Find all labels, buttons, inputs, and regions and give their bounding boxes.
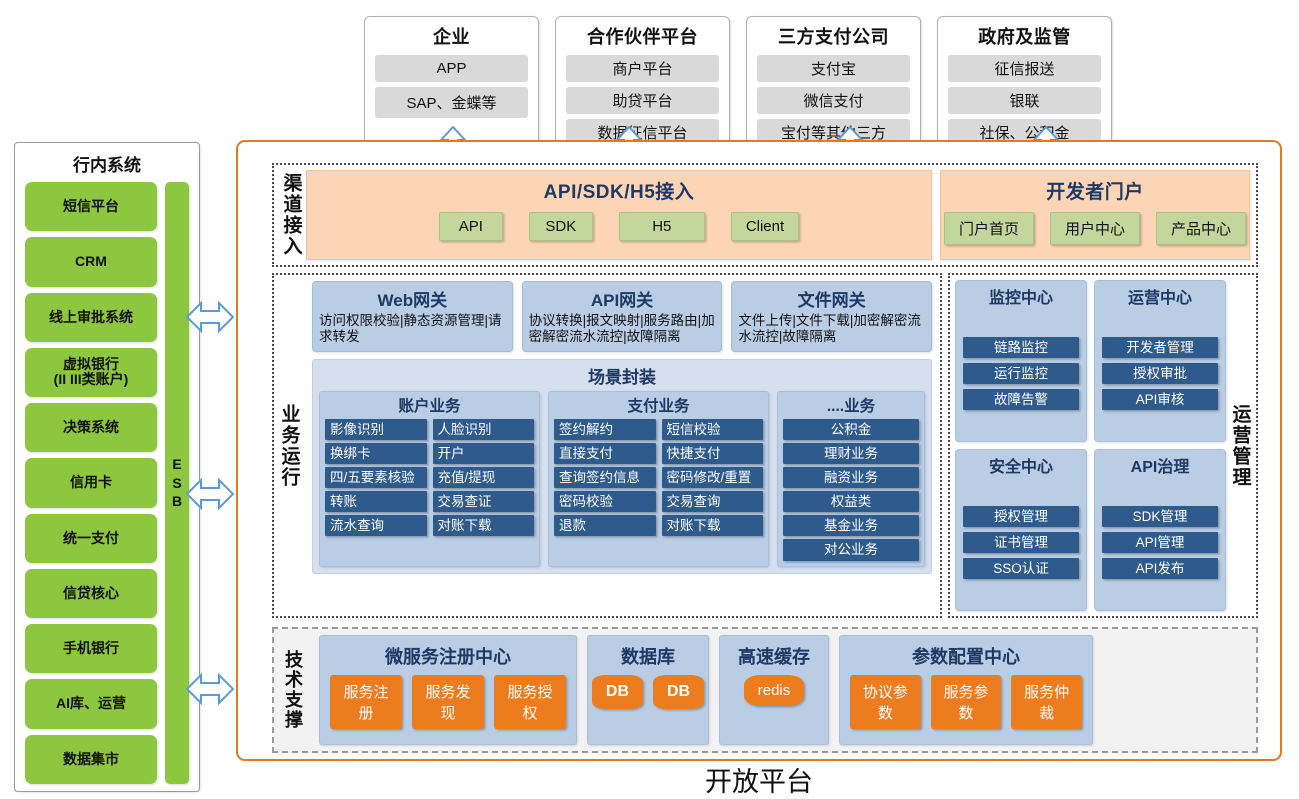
scene-item[interactable]: 交易查证	[433, 491, 535, 512]
scene-item[interactable]: 退款	[554, 515, 656, 536]
channel-chip-client[interactable]: Client	[731, 212, 799, 241]
system-item-data-mart[interactable]: 数据集市	[25, 735, 157, 784]
external-box-government-regulator[interactable]: 政府及监管 征信报送 银联 社保、公积金	[937, 16, 1112, 160]
ops-card-title: 监控中心	[963, 284, 1079, 308]
external-item[interactable]: 支付宝	[757, 55, 910, 82]
scene-card-title: 支付业务	[554, 394, 763, 416]
scene-item[interactable]: 理财业务	[783, 443, 919, 464]
ops-item[interactable]: 授权管理	[963, 506, 1079, 527]
ops-card-title: 安全中心	[963, 453, 1079, 477]
scene-encapsulation-panel: 场景封装 账户业务 影像识别 人脸识别 换绑卡 开户 四/五要素核验 充值/提现	[312, 359, 932, 574]
scene-item[interactable]: 权益类	[783, 491, 919, 512]
system-item-mobile-bank[interactable]: 手机银行	[25, 624, 157, 673]
external-item[interactable]: 商户平台	[566, 55, 719, 82]
ops-card-api-governance: API治理 SDK管理 API管理 API发布	[1094, 449, 1226, 611]
tech-support-label: 技术支撑	[277, 635, 309, 745]
scene-card-title: 账户业务	[325, 394, 534, 416]
developer-portal-panel: 开发者门户 门户首页 用户中心 产品中心	[940, 170, 1250, 260]
scene-item[interactable]: 密码校验	[554, 491, 656, 512]
tech-item[interactable]: 服务参数	[931, 675, 1002, 729]
external-item[interactable]: SAP、金蝶等	[375, 87, 528, 118]
scene-item[interactable]: 基金业务	[783, 515, 919, 536]
external-box-title: 企业	[433, 23, 470, 49]
system-item-credit-card[interactable]: 信用卡	[25, 458, 157, 507]
ops-card-monitoring-center: 监控中心 链路监控 运行监控 故障告警	[955, 280, 1087, 442]
scene-item[interactable]: 转账	[325, 491, 427, 512]
scene-item[interactable]: 对账下载	[433, 515, 535, 536]
api-sdk-h5-title: API/SDK/H5接入	[307, 171, 931, 204]
scene-item[interactable]: 充值/提现	[433, 467, 535, 488]
system-item-unified-payment[interactable]: 统一支付	[25, 514, 157, 563]
redis-icon[interactable]: redis	[744, 675, 805, 706]
scene-item[interactable]: 影像识别	[325, 419, 427, 440]
tech-card-database: 数据库 DB DB	[587, 635, 709, 745]
operations-cards-grid: 监控中心 链路监控 运行监控 故障告警 运营中心 开发者管理 授权审批 API审…	[955, 280, 1226, 611]
external-box-title: 合作伙伴平台	[587, 23, 698, 49]
scene-item[interactable]: 直接支付	[554, 443, 656, 464]
esb-label-s: S	[172, 474, 181, 493]
tech-card-title: 高速缓存	[738, 643, 810, 669]
ops-item[interactable]: SSO认证	[963, 558, 1079, 579]
esb-label-e: E	[172, 455, 181, 474]
system-item-credit-core[interactable]: 信贷核心	[25, 569, 157, 618]
business-run-label: 业务运行	[274, 275, 304, 616]
gateway-title: 文件网关	[738, 286, 925, 311]
ops-card-security-center: 安全中心 授权管理 证书管理 SSO认证	[955, 449, 1087, 611]
scene-item[interactable]: 换绑卡	[325, 443, 427, 464]
tech-card-parameter-config: 参数配置中心 协议参数 服务参数 服务仲裁	[839, 635, 1093, 745]
database-icon[interactable]: DB	[592, 675, 643, 709]
system-item-virtual-bank-label: 虚拟银行 (II III类账户)	[54, 357, 129, 387]
scene-item[interactable]: 密码修改/重置	[662, 467, 764, 488]
operations-management-label: 运营管理	[1226, 280, 1254, 611]
channel-access-section: 渠道接入 API/SDK/H5接入 API SDK H5 Client 开发者门…	[272, 163, 1258, 267]
external-item[interactable]: APP	[375, 55, 528, 82]
external-systems-row: 企业 APP SAP、金蝶等 合作伙伴平台 商户平台 助贷平台 数据征信平台 三…	[364, 16, 1112, 160]
system-item-decision[interactable]: 决策系统	[25, 403, 157, 452]
portal-chip-home[interactable]: 门户首页	[944, 212, 1034, 245]
gateway-file[interactable]: 文件网关 文件上传|文件下载|加密解密流水流控|故障隔离	[731, 281, 932, 352]
ops-item[interactable]: API发布	[1102, 558, 1218, 579]
scene-item[interactable]: 快捷支付	[662, 443, 764, 464]
horizontal-arrow-icon	[186, 672, 234, 706]
ops-card-title: 运营中心	[1102, 284, 1218, 308]
scene-item[interactable]: 对公业务	[783, 539, 919, 560]
scene-item[interactable]: 对账下载	[662, 515, 764, 536]
external-item[interactable]: 银联	[948, 87, 1101, 114]
ops-item[interactable]: 链路监控	[963, 337, 1079, 358]
gateway-desc: 文件上传|文件下载|加密解密流水流控|故障隔离	[738, 313, 925, 345]
external-item[interactable]: 征信报送	[948, 55, 1101, 82]
architecture-diagram: 企业 APP SAP、金蝶等 合作伙伴平台 商户平台 助贷平台 数据征信平台 三…	[0, 0, 1299, 799]
scene-item[interactable]: 融资业务	[783, 467, 919, 488]
tech-card-title: 微服务注册中心	[385, 643, 511, 669]
scene-card-other-business: ....业务 公积金 理财业务 融资业务 权益类 基金业务 对公业务	[777, 391, 925, 567]
scene-card-payment-business: 支付业务 签约解约 短信校验 直接支付 快捷支付 查询签约信息 密码修改/重置 …	[548, 391, 769, 567]
operations-management-section: 监控中心 链路监控 运行监控 故障告警 运营中心 开发者管理 授权审批 API审…	[948, 273, 1258, 618]
tech-card-microservice-registry: 微服务注册中心 服务注册 服务发现 服务授权	[319, 635, 577, 745]
gateway-row: Web网关 访问权限校验|静态资源管理|请求转发 API网关 协议转换|报文映射…	[304, 275, 940, 352]
system-item-ai-ops[interactable]: AI库、运营	[25, 679, 157, 728]
scene-card-account-business: 账户业务 影像识别 人脸识别 换绑卡 开户 四/五要素核验 充值/提现 转账 交…	[319, 391, 540, 567]
system-item-crm[interactable]: CRM	[25, 237, 157, 286]
external-box-title: 三方支付公司	[778, 23, 889, 49]
ops-item[interactable]: 证书管理	[963, 532, 1079, 553]
scene-encapsulation-title: 场景封装	[319, 363, 925, 388]
tech-item[interactable]: 协议参数	[850, 675, 921, 729]
tech-card-title: 参数配置中心	[912, 643, 1020, 669]
gateway-title: Web网关	[319, 286, 506, 311]
tech-card-cache: 高速缓存 redis	[719, 635, 829, 745]
internal-systems-panel: 行内系统 短信平台 CRM 线上审批系统 虚拟银行 (II III类账户) 决策…	[14, 142, 200, 792]
gateway-desc: 协议转换|报文映射|服务路由|加密解密流水流控|故障隔离	[529, 313, 716, 345]
database-icon[interactable]: DB	[653, 675, 704, 709]
scene-item[interactable]: 公积金	[783, 419, 919, 440]
gateway-desc: 访问权限校验|静态资源管理|请求转发	[319, 313, 506, 345]
ops-item[interactable]: 运行监控	[963, 363, 1079, 384]
system-item-virtual-bank[interactable]: 虚拟银行 (II III类账户)	[25, 348, 157, 397]
channel-access-label: 渠道接入	[276, 170, 306, 260]
channel-chip-h5[interactable]: H5	[619, 212, 705, 241]
portal-chip-user-center[interactable]: 用户中心	[1050, 212, 1140, 245]
external-box-third-party-payment[interactable]: 三方支付公司 支付宝 微信支付 宝付等其他三方	[746, 16, 921, 160]
external-item[interactable]: 助贷平台	[566, 87, 719, 114]
portal-chip-product-center[interactable]: 产品中心	[1156, 212, 1246, 245]
ops-item[interactable]: 授权审批	[1102, 363, 1218, 384]
internal-systems-list: 短信平台 CRM 线上审批系统 虚拟银行 (II III类账户) 决策系统 信用…	[25, 182, 157, 784]
channel-chip-api[interactable]: API	[439, 212, 503, 241]
scene-card-title: ....业务	[783, 394, 919, 416]
developer-portal-title: 开发者门户	[941, 171, 1249, 204]
ops-item[interactable]: API管理	[1102, 532, 1218, 553]
scene-item[interactable]: 签约解约	[554, 419, 656, 440]
ops-item[interactable]: 故障告警	[963, 389, 1079, 410]
tech-item[interactable]: 服务授权	[494, 675, 566, 729]
scene-item[interactable]: 查询签约信息	[554, 467, 656, 488]
scene-item[interactable]: 四/五要素核验	[325, 467, 427, 488]
tech-card-title: 数据库	[621, 643, 675, 669]
tech-support-section: 技术支撑 微服务注册中心 服务注册 服务发现 服务授权 数据库 DB DB 高速…	[272, 627, 1258, 753]
gateway-api[interactable]: API网关 协议转换|报文映射|服务路由|加密解密流水流控|故障隔离	[522, 281, 723, 352]
external-item[interactable]: 微信支付	[757, 87, 910, 114]
channel-chip-sdk[interactable]: SDK	[529, 212, 593, 241]
scene-item[interactable]: 开户	[433, 443, 535, 464]
scene-item[interactable]: 人脸识别	[433, 419, 535, 440]
gateway-title: API网关	[529, 286, 716, 311]
business-run-section: 业务运行 Web网关 访问权限校验|静态资源管理|请求转发 API网关 协议转换…	[272, 273, 942, 618]
ops-item[interactable]: API审核	[1102, 389, 1218, 410]
ops-card-title: API治理	[1102, 453, 1218, 477]
platform-title: 开放平台	[236, 760, 1282, 799]
tech-item[interactable]: 服务注册	[330, 675, 402, 729]
system-item-sms[interactable]: 短信平台	[25, 182, 157, 231]
horizontal-arrow-icon	[186, 477, 234, 511]
api-sdk-h5-panel: API/SDK/H5接入 API SDK H5 Client	[306, 170, 932, 260]
ops-item[interactable]: 开发者管理	[1102, 337, 1218, 358]
internal-systems-title: 行内系统	[25, 151, 189, 176]
external-box-title: 政府及监管	[978, 23, 1071, 49]
scene-item[interactable]: 交易查询	[662, 491, 764, 512]
scene-item[interactable]: 短信校验	[662, 419, 764, 440]
esb-label-b: B	[172, 492, 182, 511]
horizontal-arrow-icon	[186, 300, 234, 334]
tech-item[interactable]: 服务发现	[412, 675, 484, 729]
gateway-web[interactable]: Web网关 访问权限校验|静态资源管理|请求转发	[312, 281, 513, 352]
system-item-online-approval[interactable]: 线上审批系统	[25, 293, 157, 342]
tech-item[interactable]: 服务仲裁	[1011, 675, 1082, 729]
scene-item[interactable]: 流水查询	[325, 515, 427, 536]
ops-item[interactable]: SDK管理	[1102, 506, 1218, 527]
ops-card-operation-center: 运营中心 开发者管理 授权审批 API审核	[1094, 280, 1226, 442]
